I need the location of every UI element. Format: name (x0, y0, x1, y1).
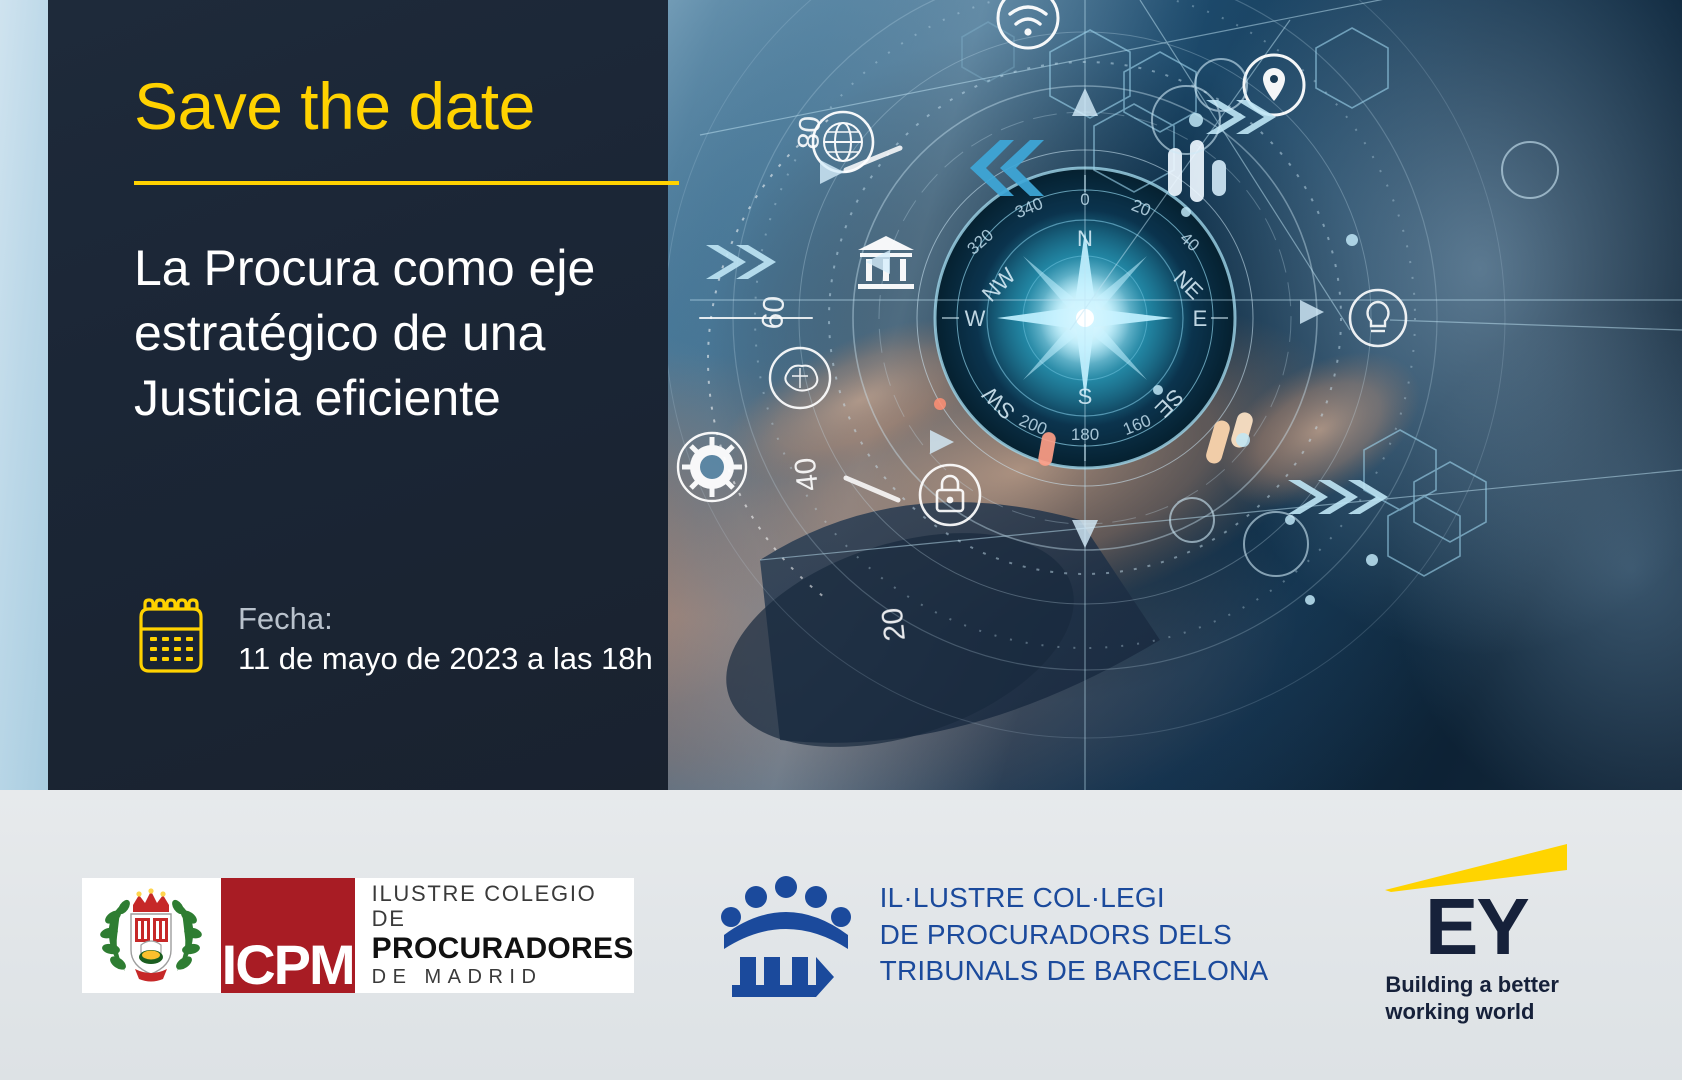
icpm-crest-icon (82, 878, 221, 993)
date-text-group: Fecha: 11 de mayo de 2023 a las 18h (238, 595, 653, 678)
barcelona-line-2: DE PROCURADORS DELS (880, 917, 1269, 953)
barcelona-line-1: IL·LUSTRE COL·LEGI (880, 880, 1269, 916)
panel-left-edge-gradient (0, 0, 48, 790)
icpm-red-mark: ICPM (221, 878, 355, 993)
barcelona-wordmark: IL·LUSTRE COL·LEGI DE PROCURADORS DELS T… (880, 880, 1269, 989)
icpm-wordmark: ILUSTRE COLEGIO DE PROCURADORES DE MADRI… (355, 878, 634, 993)
lock-icon (920, 465, 980, 525)
logo-ey: EY Building a better working world (1352, 844, 1600, 1026)
ey-tagline: Building a better working world (1385, 972, 1567, 1026)
icpm-mark-text: ICPM (221, 932, 355, 997)
ey-wordmark: EY (1425, 890, 1528, 964)
svg-text:W: W (965, 306, 986, 331)
event-date-block: Fecha: 11 de mayo de 2023 a las 18h (134, 595, 653, 678)
kicker-save-the-date: Save the date (134, 72, 535, 141)
icpm-line-3: DE MADRID (372, 965, 634, 989)
svg-text:E: E (1193, 306, 1208, 331)
left-info-panel: Save the date La Procura como eje estrat… (48, 0, 668, 790)
page-title: La Procura como eje estratégico de una J… (134, 236, 679, 431)
gear-icon (678, 433, 746, 501)
date-value: 11 de mayo de 2023 a las 18h (238, 639, 653, 679)
ey-tagline-line-1: Building a better (1385, 972, 1567, 999)
svg-text:40: 40 (789, 456, 825, 493)
svg-text:20: 20 (876, 606, 912, 643)
sponsor-logos: ICPM ILUSTRE COLEGIO DE PROCURADORES DE … (0, 790, 1682, 1080)
barcelona-emblem-icon (718, 873, 854, 997)
save-the-date-poster: N NE E SE S SW W NW 0 20 40 340 320 180 (0, 0, 1682, 1080)
icpm-line-2: PROCURADORES (372, 932, 634, 966)
ey-tagline-line-2: working world (1385, 999, 1567, 1026)
logo-icpm: ICPM ILUSTRE COLEGIO DE PROCURADORES DE … (82, 878, 634, 993)
footer-logo-band: ICPM ILUSTRE COLEGIO DE PROCURADORES DE … (0, 790, 1682, 1080)
icpm-line-1: ILUSTRE COLEGIO DE (372, 881, 634, 932)
barcelona-line-3: TRIBUNALS DE BARCELONA (880, 953, 1269, 989)
lightbulb-icon (1350, 290, 1406, 346)
calendar-icon (134, 595, 208, 673)
logo-barcelona: IL·LUSTRE COL·LEGI DE PROCURADORS DELS T… (718, 873, 1269, 997)
wifi-icon (998, 0, 1058, 48)
accent-divider (134, 181, 679, 185)
hero-banner: N NE E SE S SW W NW 0 20 40 340 320 180 (0, 0, 1682, 790)
brain-icon (770, 348, 830, 408)
date-label: Fecha: (238, 599, 653, 639)
